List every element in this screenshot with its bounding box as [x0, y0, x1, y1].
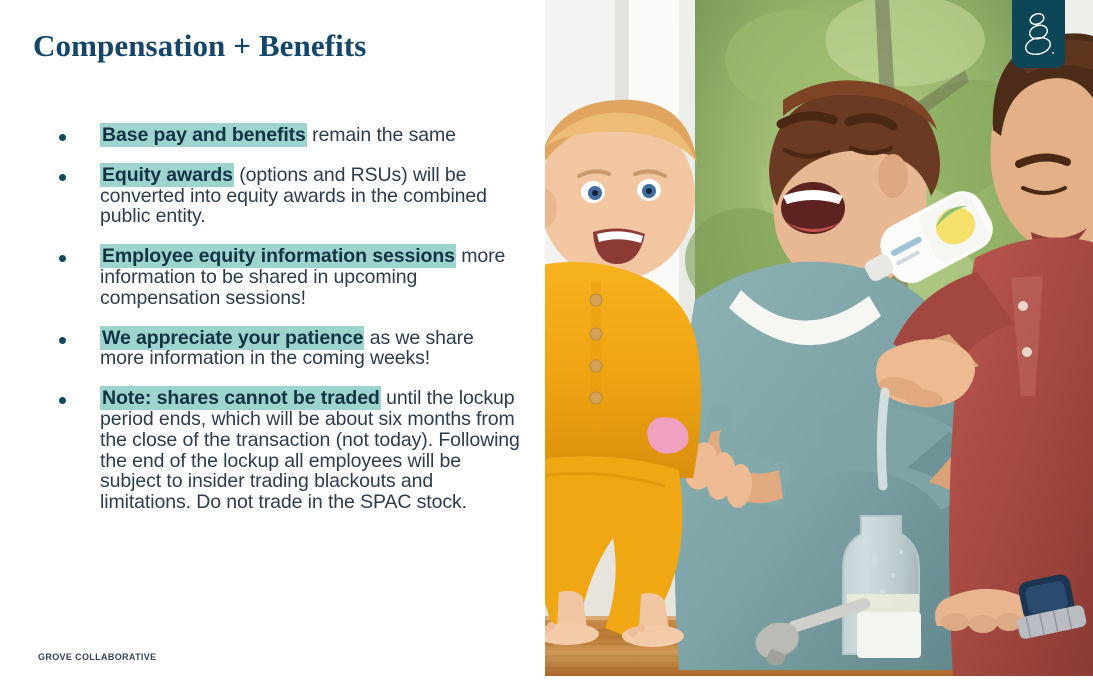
bullet-highlight: Equity awards	[100, 163, 234, 187]
page-title: Compensation + Benefits	[33, 28, 366, 64]
bullet-highlight: We appreciate your patience	[100, 326, 364, 350]
bullet-list: Base pay and benefits remain the same Eq…	[33, 125, 533, 513]
bullet-highlight: Note: shares cannot be traded	[100, 386, 381, 410]
list-item: Equity awards (options and RSUs) will be…	[33, 165, 533, 227]
grove-stacked-leaves-icon	[1022, 11, 1056, 57]
bullet-highlight: Employee equity information sessions	[100, 244, 456, 268]
slide: Compensation + Benefits Base pay and ben…	[0, 0, 1093, 682]
lifestyle-photo	[545, 0, 1093, 676]
bullet-dot-icon	[59, 174, 66, 181]
list-item: Base pay and benefits remain the same	[33, 125, 533, 146]
bullet-dot-icon	[59, 397, 66, 404]
bullet-dot-icon	[59, 134, 66, 141]
list-item: Note: shares cannot be traded until the …	[33, 388, 533, 513]
grove-logo-badge	[1012, 0, 1065, 68]
bullet-text: Note: shares cannot be traded until the …	[100, 388, 520, 513]
bullet-text: Employee equity information sessions mor…	[100, 246, 520, 308]
bullet-rest: remain the same	[307, 124, 456, 146]
footer-wordmark: GROVE COLLABORATIVE	[38, 652, 157, 662]
list-item: We appreciate your patience as we share …	[33, 328, 533, 370]
bullet-text: Equity awards (options and RSUs) will be…	[100, 165, 520, 227]
bullet-dot-icon	[59, 255, 66, 262]
bullet-highlight: Base pay and benefits	[100, 123, 307, 147]
bullet-text: Base pay and benefits remain the same	[100, 125, 456, 146]
bullet-dot-icon	[59, 337, 66, 344]
bullet-text: We appreciate your patience as we share …	[100, 328, 520, 370]
content-pane: Compensation + Benefits Base pay and ben…	[0, 0, 545, 682]
photo-illustration	[545, 0, 1093, 676]
list-item: Employee equity information sessions mor…	[33, 246, 533, 308]
